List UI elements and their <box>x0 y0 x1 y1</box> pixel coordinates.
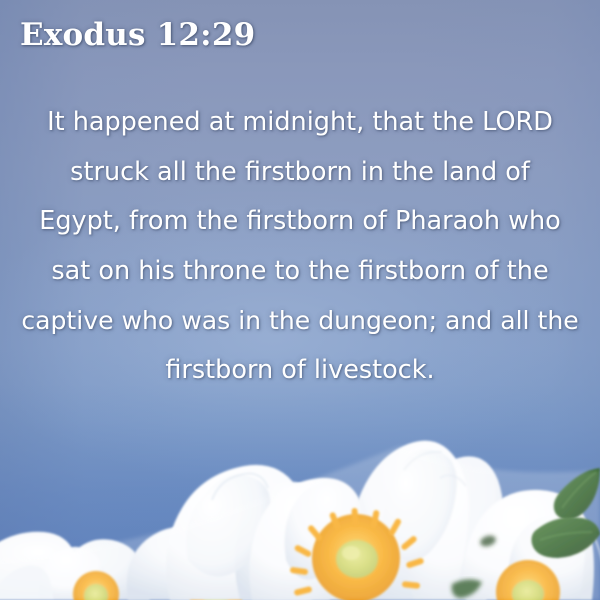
verse-line: Egypt, from the firstborn of Pharaoh who <box>18 197 582 247</box>
verse-line: struck all the firstborn in the land of <box>18 148 582 198</box>
verse-line: captive who was in the dungeon; and all … <box>18 296 582 346</box>
verse-text-block: It happened at midnight, that the LORD s… <box>18 98 582 395</box>
verse-line: firstborn of livestock. <box>18 346 582 396</box>
verse-line: sat on his throne to the firstborn of th… <box>18 247 582 297</box>
verse-reference-title: Exodus 12:29 <box>20 17 255 53</box>
verse-card: Exodus 12:29 It happened at midnight, th… <box>0 0 600 600</box>
verse-line: It happened at midnight, that the LORD <box>18 98 582 148</box>
sky-bottom-shading <box>0 384 600 600</box>
